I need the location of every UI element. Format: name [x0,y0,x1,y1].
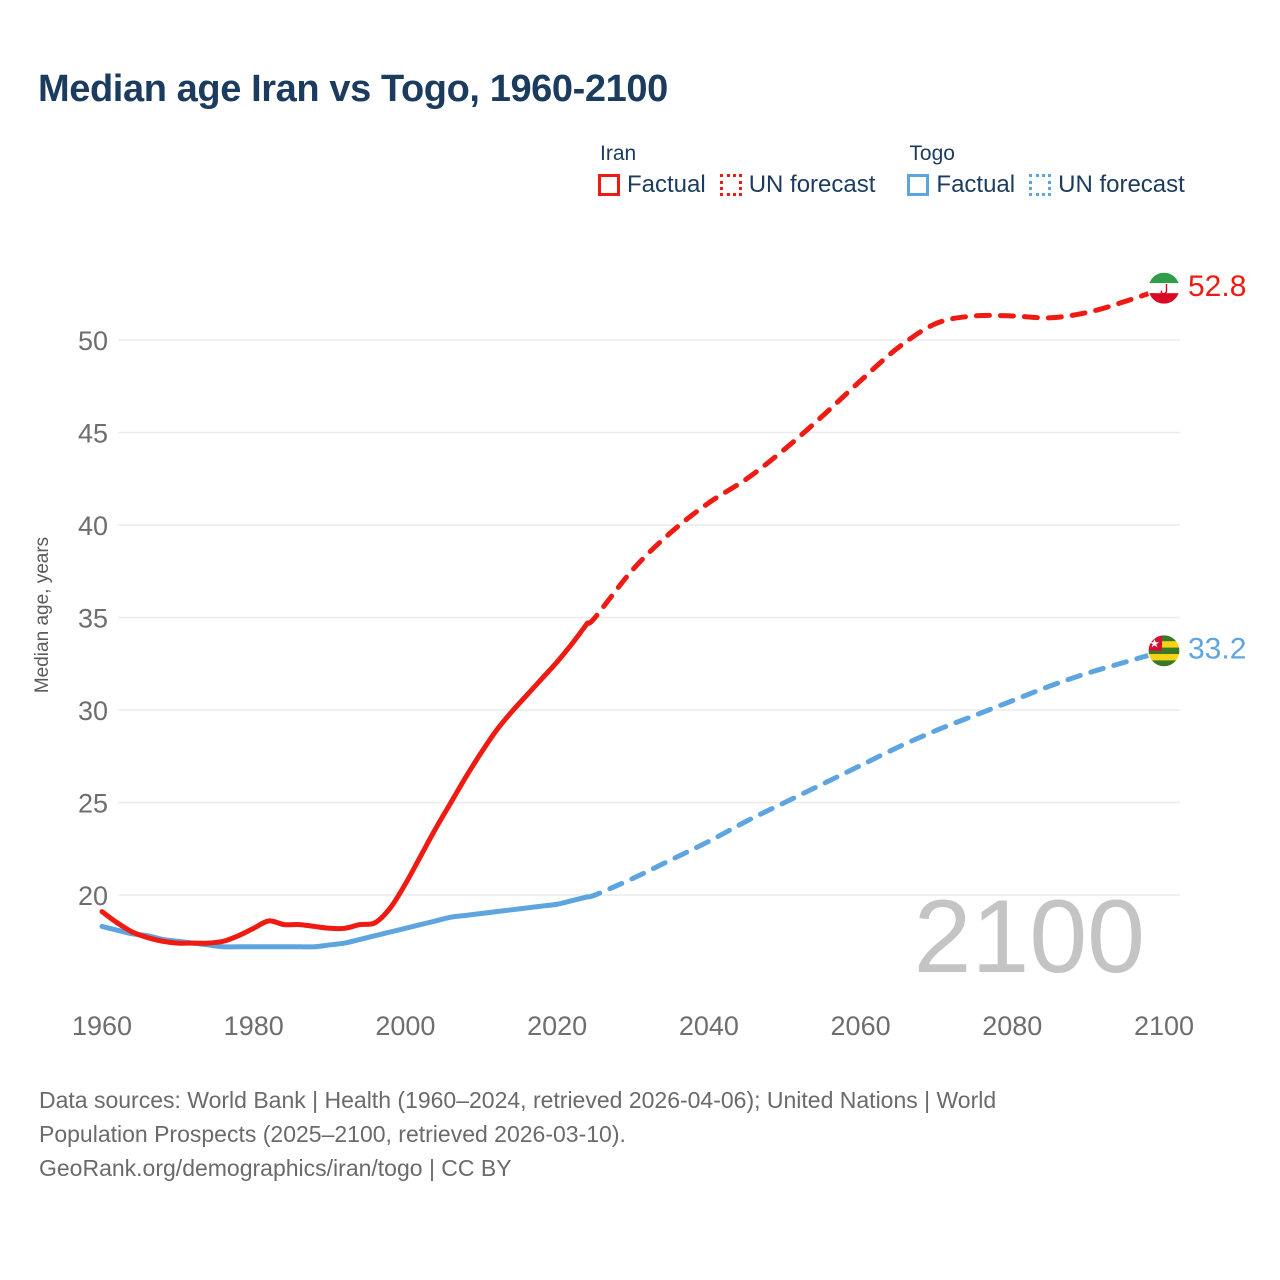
legend-group-title-togo: Togo [907,142,1184,165]
y-axis-tick-label: 20 [78,881,108,911]
chart-legend: Iran Factual UN forecast Togo Factual [598,142,1185,199]
legend-item-togo-forecast[interactable]: UN forecast [1029,171,1185,199]
series-line-iran-factual [102,623,587,943]
legend-swatch-solid-icon [907,174,929,196]
x-axis-tick-label: 2080 [982,1011,1042,1041]
footer-line-2: Population Prospects (2025–2100, retriev… [39,1117,1159,1151]
legend-label-togo-forecast: UN forecast [1058,171,1185,199]
legend-group-title-iran: Iran [598,142,875,165]
togo-end-value: 33.2 [1188,633,1246,666]
x-axis-ticks: 19601980200020202040206020802100 [72,1011,1194,1041]
gridlines [118,340,1180,895]
legend-group-iran: Iran Factual UN forecast [598,142,875,199]
x-axis-tick-label: 2100 [1134,1011,1194,1041]
legend-label-iran-factual: Factual [627,171,706,199]
footer-line-1: Data sources: World Bank | Health (1960–… [39,1083,1159,1117]
footer-line-3: GeoRank.org/demographics/iran/togo | CC … [39,1151,1159,1185]
watermark-year: 2100 [914,879,1145,995]
y-axis-tick-label: 40 [78,511,108,541]
y-axis-tick-label: 50 [78,326,108,356]
x-axis-tick-label: 2000 [375,1011,435,1041]
x-axis-tick-label: 1960 [72,1011,132,1041]
legend-swatch-dotted-icon [1029,174,1051,196]
y-axis-tick-label: 35 [78,604,108,634]
y-axis-tick-label: 30 [78,696,108,726]
svg-text:ل: ل [1160,284,1168,296]
legend-item-iran-factual[interactable]: Factual [598,171,706,199]
series-line-togo-forecast [587,651,1164,897]
legend-item-iran-forecast[interactable]: UN forecast [720,171,876,199]
togo-flag-icon [1148,635,1180,667]
iran-flag-icon: ل [1148,272,1180,304]
y-axis-title: Median age, years [32,537,53,693]
legend-swatch-solid-icon [598,174,620,196]
y-axis-ticks: 20253035404550 [78,326,108,911]
legend-group-togo: Togo Factual UN forecast [907,142,1184,199]
series-line-togo-factual [102,897,587,947]
x-axis-tick-label: 1980 [224,1011,284,1041]
legend-swatch-dotted-icon [720,174,742,196]
legend-item-togo-factual[interactable]: Factual [907,171,1015,199]
y-axis-tick-label: 25 [78,789,108,819]
legend-label-iran-forecast: UN forecast [749,171,876,199]
y-axis-tick-label: 45 [78,419,108,449]
iran-end-value: 52.8 [1188,270,1246,303]
chart-page: Median age Iran vs Togo, 1960-2100 Iran … [0,0,1280,1280]
x-axis-tick-label: 2060 [831,1011,891,1041]
x-axis-tick-label: 2020 [527,1011,587,1041]
series-line-iran-forecast [587,288,1164,623]
page-title: Median age Iran vs Togo, 1960-2100 [38,68,668,111]
footer-sources: Data sources: World Bank | Health (1960–… [39,1083,1159,1185]
legend-label-togo-factual: Factual [936,171,1015,199]
x-axis-tick-label: 2040 [679,1011,739,1041]
